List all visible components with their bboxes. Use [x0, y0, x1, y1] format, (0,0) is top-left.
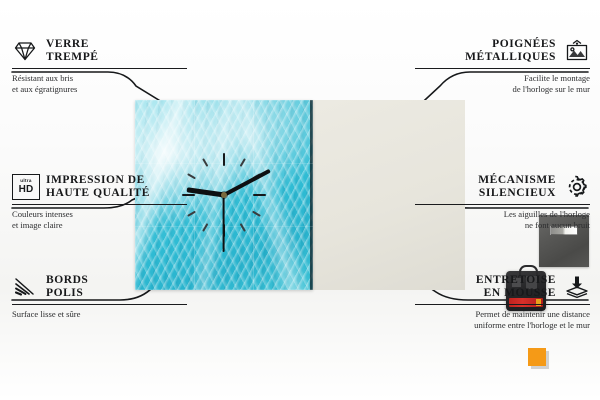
feature-title: ENTRETOISE EN MOUSSE: [476, 274, 556, 300]
feature-title: VERRE TREMPÉ: [46, 38, 99, 64]
feature-divider: [12, 304, 187, 305]
detail-foam-spacer: [528, 348, 546, 366]
feature-divider: [12, 68, 187, 69]
gear-icon: [564, 174, 590, 200]
diamond-icon: [12, 38, 38, 64]
infographic-canvas: VERRE TREMPÉ Résistant aux bris et aux é…: [0, 0, 600, 400]
feature-impression-hd: ultra HD IMPRESSION DE HAUTE QUALITÉ Cou…: [12, 174, 187, 230]
feature-description: Permet de maintenir une distance uniform…: [415, 309, 590, 330]
feature-poignees-metalliques: POIGNÉES MÉTALLIQUES Facilite le montage…: [415, 38, 590, 94]
feature-divider: [415, 204, 590, 205]
feature-mecanisme-silencieux: MÉCANISME SILENCIEUX Les aiguilles de l'…: [415, 174, 590, 230]
second-hand: [223, 195, 225, 252]
feature-description: Couleurs intenses et image claire: [12, 209, 187, 230]
feature-title: POIGNÉES MÉTALLIQUES: [465, 38, 556, 64]
picture-hanger-icon: [564, 38, 590, 64]
feature-description: Facilite le montage de l'horloge sur le …: [415, 73, 590, 94]
feature-title: BORDS POLIS: [46, 274, 88, 300]
feature-entretoise-en-mousse: ENTRETOISE EN MOUSSE Permet de maintenir…: [415, 274, 590, 330]
polished-edges-icon: [12, 274, 38, 300]
feature-bords-polis: BORDS POLIS Surface lisse et sûre: [12, 274, 187, 320]
feature-title: MÉCANISME SILENCIEUX: [478, 174, 556, 200]
foam-spacer-icon: [564, 274, 590, 300]
feature-description: Résistant aux bris et aux égratignures: [12, 73, 187, 94]
feature-divider: [12, 204, 187, 205]
ultra-hd-icon-main-label: HD: [19, 185, 34, 195]
feature-description: Surface lisse et sûre: [12, 309, 187, 320]
feature-description: Les aiguilles de l'horloge ne font aucun…: [415, 209, 590, 230]
ultra-hd-icon: ultra HD: [12, 174, 38, 200]
feature-divider: [415, 68, 590, 69]
feature-divider: [415, 304, 590, 305]
feature-verre-trempe: VERRE TREMPÉ Résistant aux bris et aux é…: [12, 38, 187, 94]
feature-title: IMPRESSION DE HAUTE QUALITÉ: [46, 174, 150, 200]
center-cap: [221, 192, 227, 198]
